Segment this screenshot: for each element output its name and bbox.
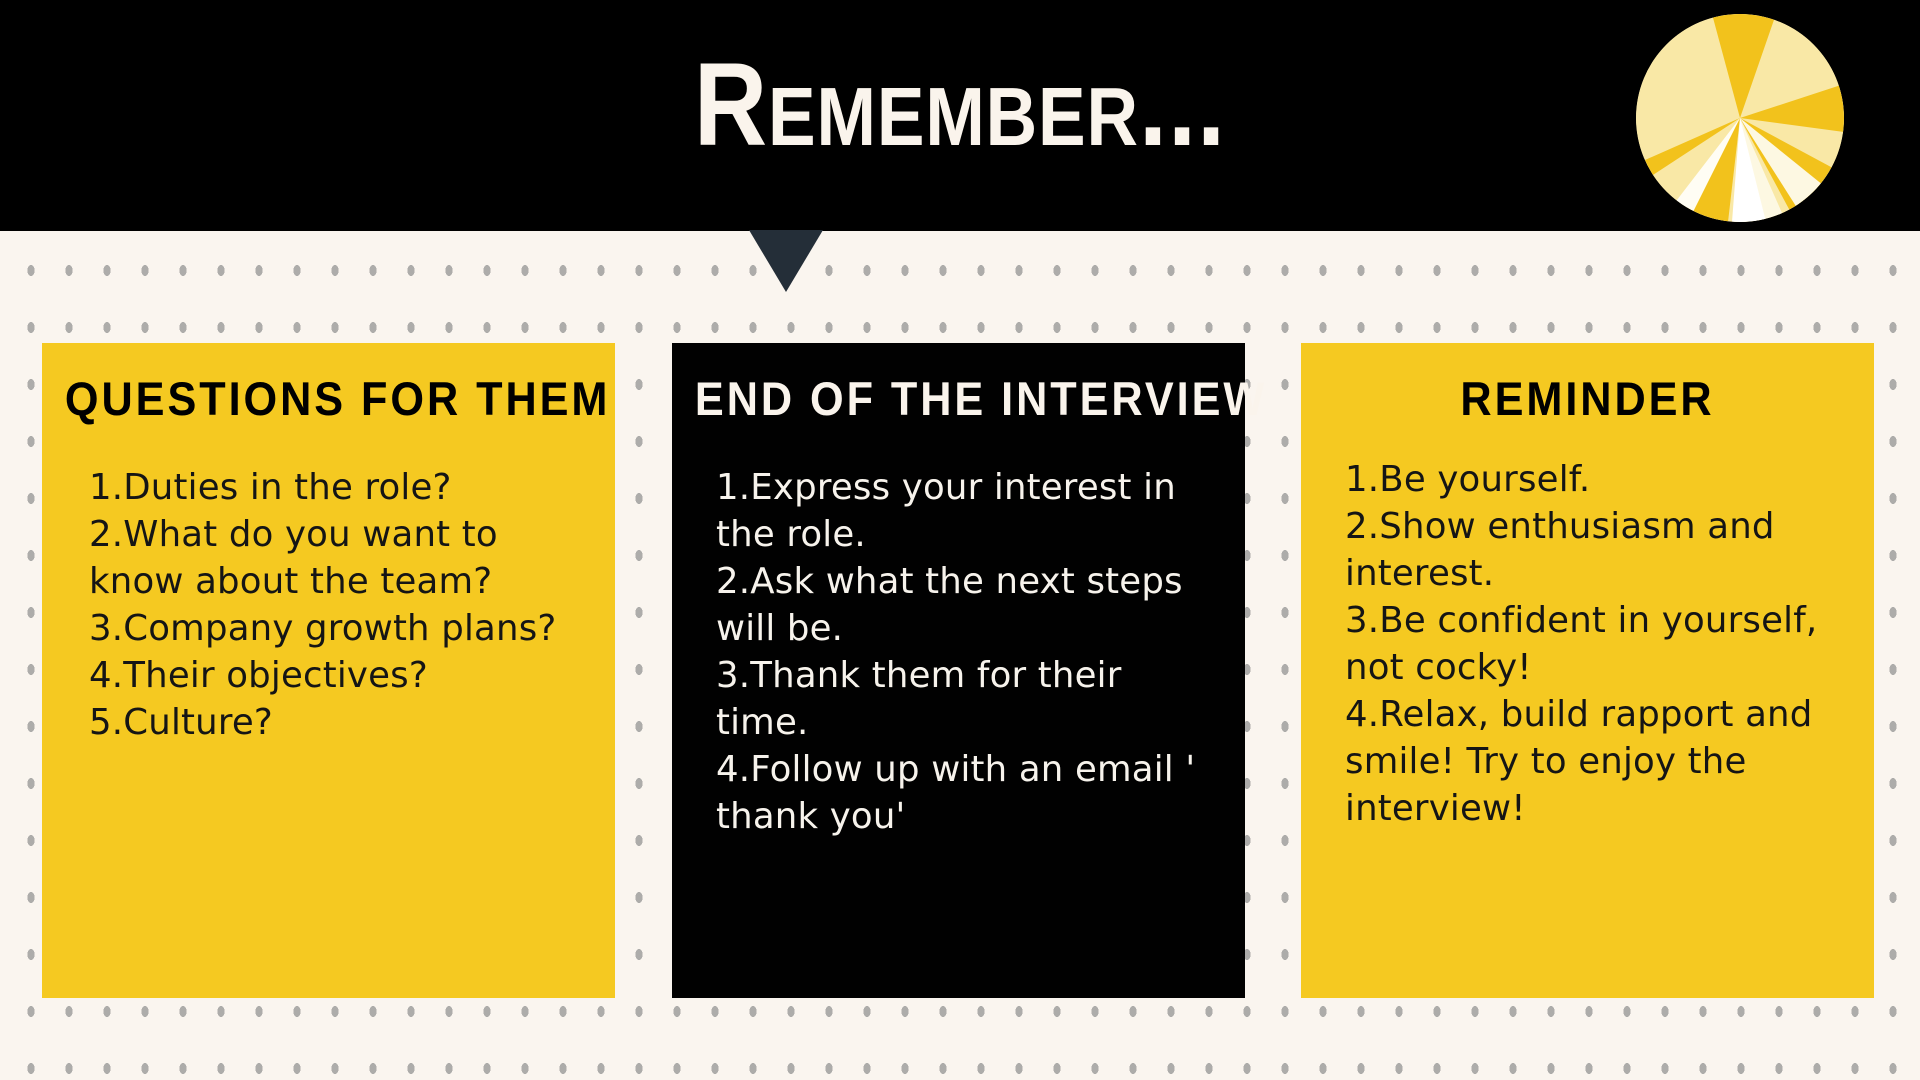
list-item: 1.Duties in the role?	[89, 464, 595, 511]
card-row: Questions for them 1.Duties in the role?…	[0, 343, 1920, 1003]
list-item: 4.Relax, build rapport and smile! Try to…	[1345, 691, 1854, 832]
card-title-questions-for-them: Questions for them	[65, 343, 592, 422]
list-item: 2.Ask what the next steps will be.	[716, 558, 1225, 652]
card-title-reminder: Reminder	[1324, 343, 1851, 422]
list-item: 2.What do you want to know about the tea…	[89, 511, 595, 605]
down-pointer-triangle	[749, 230, 823, 292]
list-item: 3.Company growth plans?	[89, 605, 595, 652]
list-item: 4.Follow up with an email ' thank you'	[716, 746, 1225, 840]
list-reminder: 1.Be yourself. 2.Show enthusiasm and int…	[1301, 422, 1874, 832]
list-questions-for-them: 1.Duties in the role? 2.What do you want…	[42, 422, 615, 746]
list-item: 1.Be yourself.	[1345, 456, 1854, 503]
sunburst-circle-icon	[1636, 14, 1844, 222]
card-reminder: Reminder 1.Be yourself. 2.Show enthusias…	[1301, 343, 1874, 998]
card-end-of-the-interview: End of the interview 1.Express your inte…	[672, 343, 1245, 998]
list-item: 3.Be confident in yourself, not cocky!	[1345, 597, 1854, 691]
card-title-end-of-the-interview: End of the interview	[695, 343, 1222, 422]
list-item: 4.Their objectives?	[89, 652, 595, 699]
list-item: 3.Thank them for their time.	[716, 652, 1225, 746]
slide-canvas: Remember... Questions for them	[0, 0, 1920, 1080]
list-end-of-the-interview: 1.Express your interest in the role. 2.A…	[672, 422, 1245, 840]
list-item: 1.Express your interest in the role.	[716, 464, 1225, 558]
card-questions-for-them: Questions for them 1.Duties in the role?…	[42, 343, 615, 998]
list-item: 5.Culture?	[89, 699, 595, 746]
list-item: 2.Show enthusiasm and interest.	[1345, 503, 1854, 597]
header-band: Remember...	[0, 0, 1920, 231]
page-title: Remember...	[134, 46, 1785, 164]
